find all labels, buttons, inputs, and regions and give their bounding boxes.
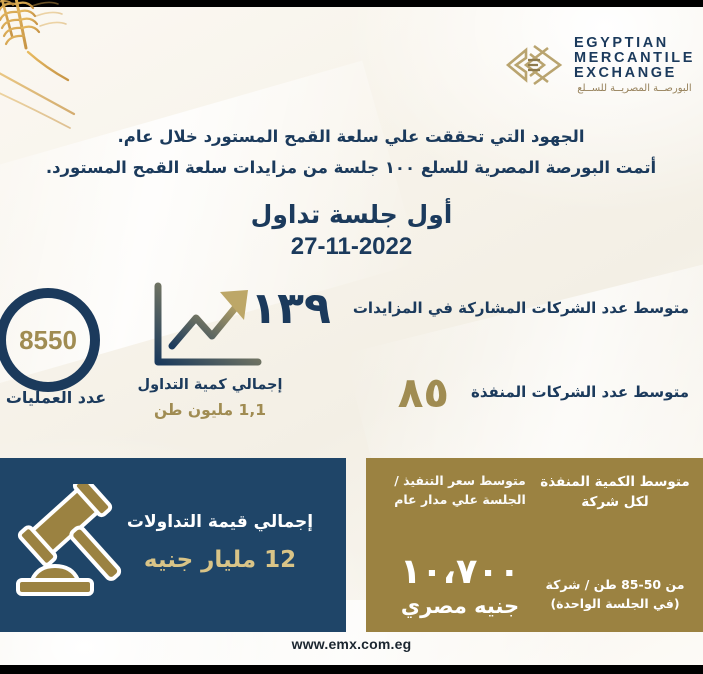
gold-stats-panel: متوسط الكمية المنفذة لكل شركة من 50-85 ط… [366,458,703,632]
avg-price-block: متوسط سعر التنفيذ / الجلسة علي مدار عام … [380,472,540,618]
bottom-black-bar [0,665,703,674]
avg-executing-companies-row: متوسط عدد الشركات المنفذة ٨٥ [398,368,689,417]
operations-count-badge: 8550 [0,288,100,392]
website-footer[interactable]: www.emx.com.eg [0,636,703,652]
avg-quantity-detail-1: من 50-85 طن / شركة [539,575,691,594]
growth-arrow-chart-icon [146,282,266,374]
avg-quantity-label: متوسط الكمية المنفذة لكل شركة [539,472,691,513]
avg-quantity-block: متوسط الكمية المنفذة لكل شركة من 50-85 ط… [539,472,691,613]
avg-quantity-detail-2: (في الجلسة الواحدة) [539,594,691,613]
total-volume-caption: إجمالي كمية التداول 1,1 مليون طن [120,375,300,422]
total-trading-value-label: إجمالي قيمة التداولات [116,510,324,535]
total-volume-value: 1,1 مليون طن [120,399,300,422]
headline-line-2: أتمت البورصة المصرية للسلع ١٠٠ جلسة من م… [35,155,667,181]
operations-count-label: عدد العمليات [0,388,116,407]
avg-price-value: ١٠،٧٠٠ [380,552,540,592]
total-trading-value-text: إجمالي قيمة التداولات 12 مليار جنيه [116,510,324,577]
avg-participating-companies-value: ١٣٩ [250,283,331,334]
logo-line-2: MERCANTILE [574,51,695,66]
infographic-page: EGYPTIAN MERCANTILE EXCHANGE البورصــة ا… [0,0,703,674]
logo-arabic-text: البورصــة المصريــة للســلع [574,84,695,94]
avg-price-label: متوسط سعر التنفيذ / الجلسة علي مدار عام [380,472,540,510]
wheat-stalk-icon [0,0,147,140]
operations-count-value: 8550 [0,288,100,392]
avg-executing-companies-label: متوسط عدد الشركات المنفذة [471,382,689,404]
logo-line-3: EXCHANGE [574,66,695,81]
avg-price-unit: جنيه مصري [380,594,540,618]
brand-logo: EGYPTIAN MERCANTILE EXCHANGE البورصــة ا… [504,36,695,95]
headline-line-1: الجهود التي تحققت علي سلعة القمح المستور… [35,124,667,150]
headline: الجهود التي تحققت علي سلعة القمح المستور… [35,124,667,180]
total-volume-label: إجمالي كمية التداول [120,375,300,397]
avg-participating-companies-row: متوسط عدد الشركات المشاركة في المزايدات … [250,283,689,334]
total-trading-value-panel: إجمالي قيمة التداولات 12 مليار جنيه [0,458,346,632]
first-session-block: أول جلسة تداول 27-11-2022 [0,200,703,261]
avg-participating-companies-label: متوسط عدد الشركات المشاركة في المزايدات [353,298,689,320]
first-session-label: أول جلسة تداول [0,200,703,229]
total-trading-value-amount: 12 مليار جنيه [116,544,324,577]
logo-line-1: EGYPTIAN [574,36,695,51]
avg-executing-companies-value: ٨٥ [398,368,449,417]
emx-monogram-icon [504,40,566,90]
first-session-date: 27-11-2022 [0,233,703,261]
